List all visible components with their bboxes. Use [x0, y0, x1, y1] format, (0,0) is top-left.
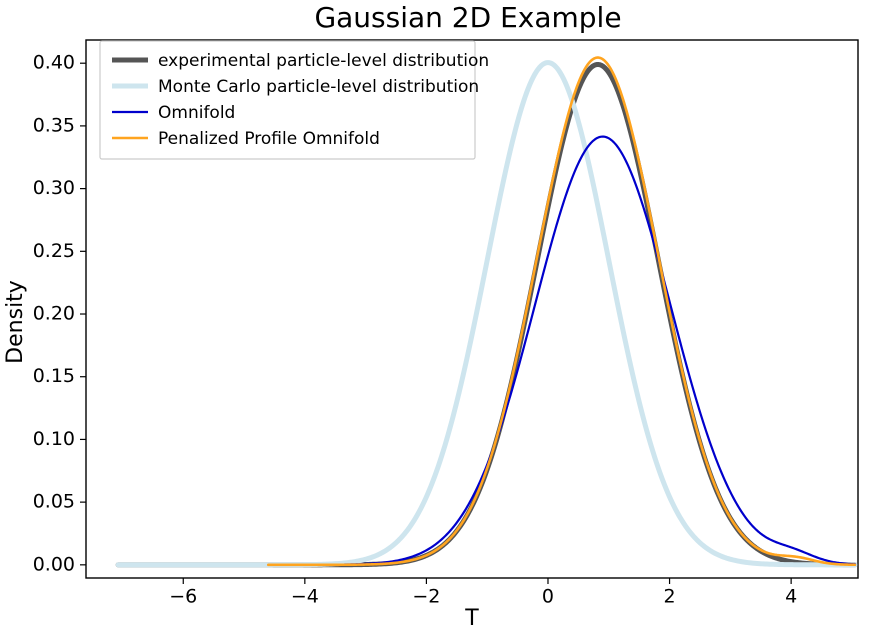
- legend-label: Penalized Profile Omnifold: [158, 129, 380, 149]
- legend-label: Monte Carlo particle-level distribution: [158, 77, 479, 97]
- y-axis-label: Density: [3, 280, 28, 364]
- x-tick-label: 2: [664, 586, 676, 608]
- page-title: Gaussian 2D Example: [314, 1, 621, 34]
- gaussian-2d-chart: Gaussian 2D Example −6−4−2024 0.000.050.…: [0, 0, 870, 642]
- y-tick-label: 0.25: [33, 240, 75, 262]
- y-tick-label: 0.10: [33, 428, 75, 450]
- x-tick-label: 0: [542, 586, 554, 608]
- x-tick-label: −2: [412, 586, 440, 608]
- figure-canvas: Gaussian 2D Example −6−4−2024 0.000.050.…: [0, 0, 870, 642]
- x-axis-label: T: [464, 606, 479, 631]
- x-tick-label: −4: [291, 586, 319, 608]
- legend-label: Omnifold: [158, 103, 235, 123]
- y-tick-label: 0.05: [33, 491, 75, 513]
- y-tick-label: 0.15: [33, 365, 75, 387]
- chart-legend: experimental particle-level distribution…: [100, 41, 489, 159]
- y-tick-label: 0.30: [33, 177, 75, 199]
- x-tick-label: −6: [169, 586, 197, 608]
- y-tick-label: 0.20: [33, 303, 75, 325]
- y-tick-label: 0.35: [33, 114, 75, 136]
- x-tick-label: 4: [785, 586, 797, 608]
- y-tick-label: 0.40: [33, 52, 75, 74]
- legend-label: experimental particle-level distribution: [158, 51, 489, 71]
- y-tick-label: 0.00: [33, 553, 75, 575]
